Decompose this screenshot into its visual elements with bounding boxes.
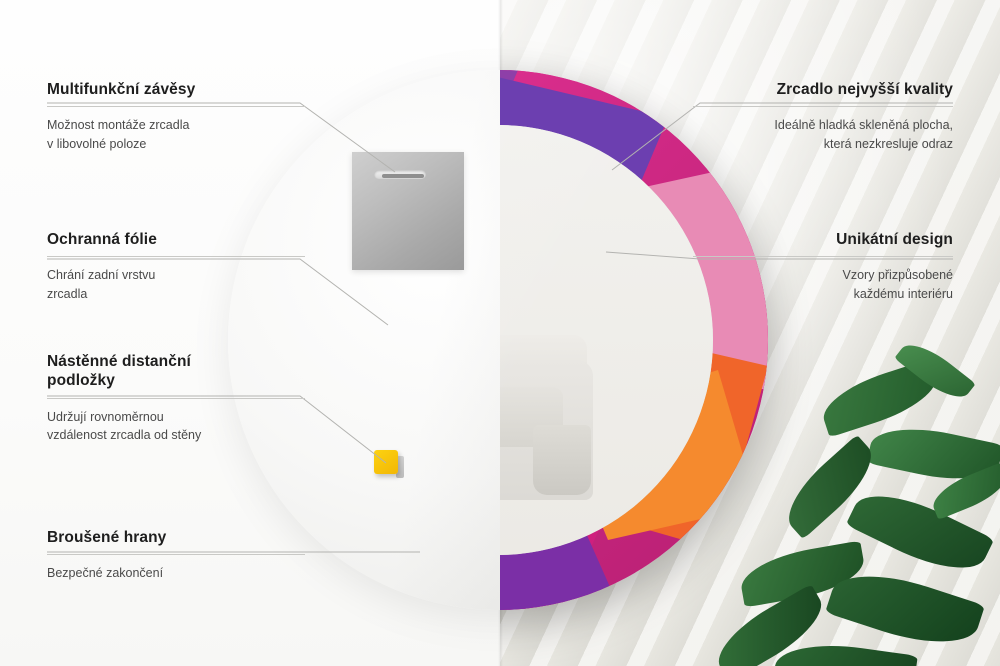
callout-rule: [47, 256, 305, 257]
callout-description: Chrání zadní vrstvu zrcadla: [47, 266, 305, 302]
callout-title: Ochranná fólie: [47, 230, 305, 249]
callout-description: Ideálně hladká skleněná plocha, která ne…: [693, 116, 953, 152]
callout-description: Udržují rovnoměrnou vzdálenost zrcadla o…: [47, 408, 305, 444]
callout-rule: [693, 106, 953, 107]
callout-multifunkcni-zavesy: Multifunkční závěsy Možnost montáže zrca…: [47, 80, 305, 153]
spacer-pad: [374, 450, 398, 474]
callout-rule: [693, 256, 953, 257]
callout-zrcadlo-nejvyssi-kvality: Zrcadlo nejvyšší kvality Ideálně hladká …: [693, 80, 953, 153]
hanger-plate: [352, 152, 464, 270]
callout-title: Broušené hrany: [47, 528, 305, 547]
callout-description: Bezpečné zakončení: [47, 564, 305, 582]
callout-brousene-hrany: Broušené hrany Bezpečné zakončení: [47, 528, 305, 583]
callout-title: Zrcadlo nejvyšší kvality: [693, 80, 953, 99]
callout-unikatni-design: Unikátní design Vzory přizpůsobené každé…: [693, 230, 953, 303]
callout-rule: [47, 398, 305, 399]
callout-ochranna-folie: Ochranná fólie Chrání zadní vrstvu zrcad…: [47, 230, 305, 303]
callout-rule: [47, 106, 305, 107]
callout-title: Unikátní design: [693, 230, 953, 249]
callout-nastenne-distancni-podlozky: Nástěnné distanční podložky Udržují rovn…: [47, 352, 305, 444]
hanger-slot-inner: [382, 174, 424, 178]
callout-description: Možnost montáže zrcadla v libovolné polo…: [47, 116, 305, 152]
infographic-canvas: Multifunkční závěsy Možnost montáže zrca…: [0, 0, 1000, 666]
callout-title: Multifunkční závěsy: [47, 80, 305, 99]
callout-title: Nástěnné distanční podložky: [47, 352, 305, 391]
reflected-side-object: [533, 425, 591, 495]
callout-rule: [47, 554, 305, 555]
decorative-leaves: [680, 346, 1000, 666]
callout-description: Vzory přizpůsobené každému interiéru: [693, 266, 953, 302]
